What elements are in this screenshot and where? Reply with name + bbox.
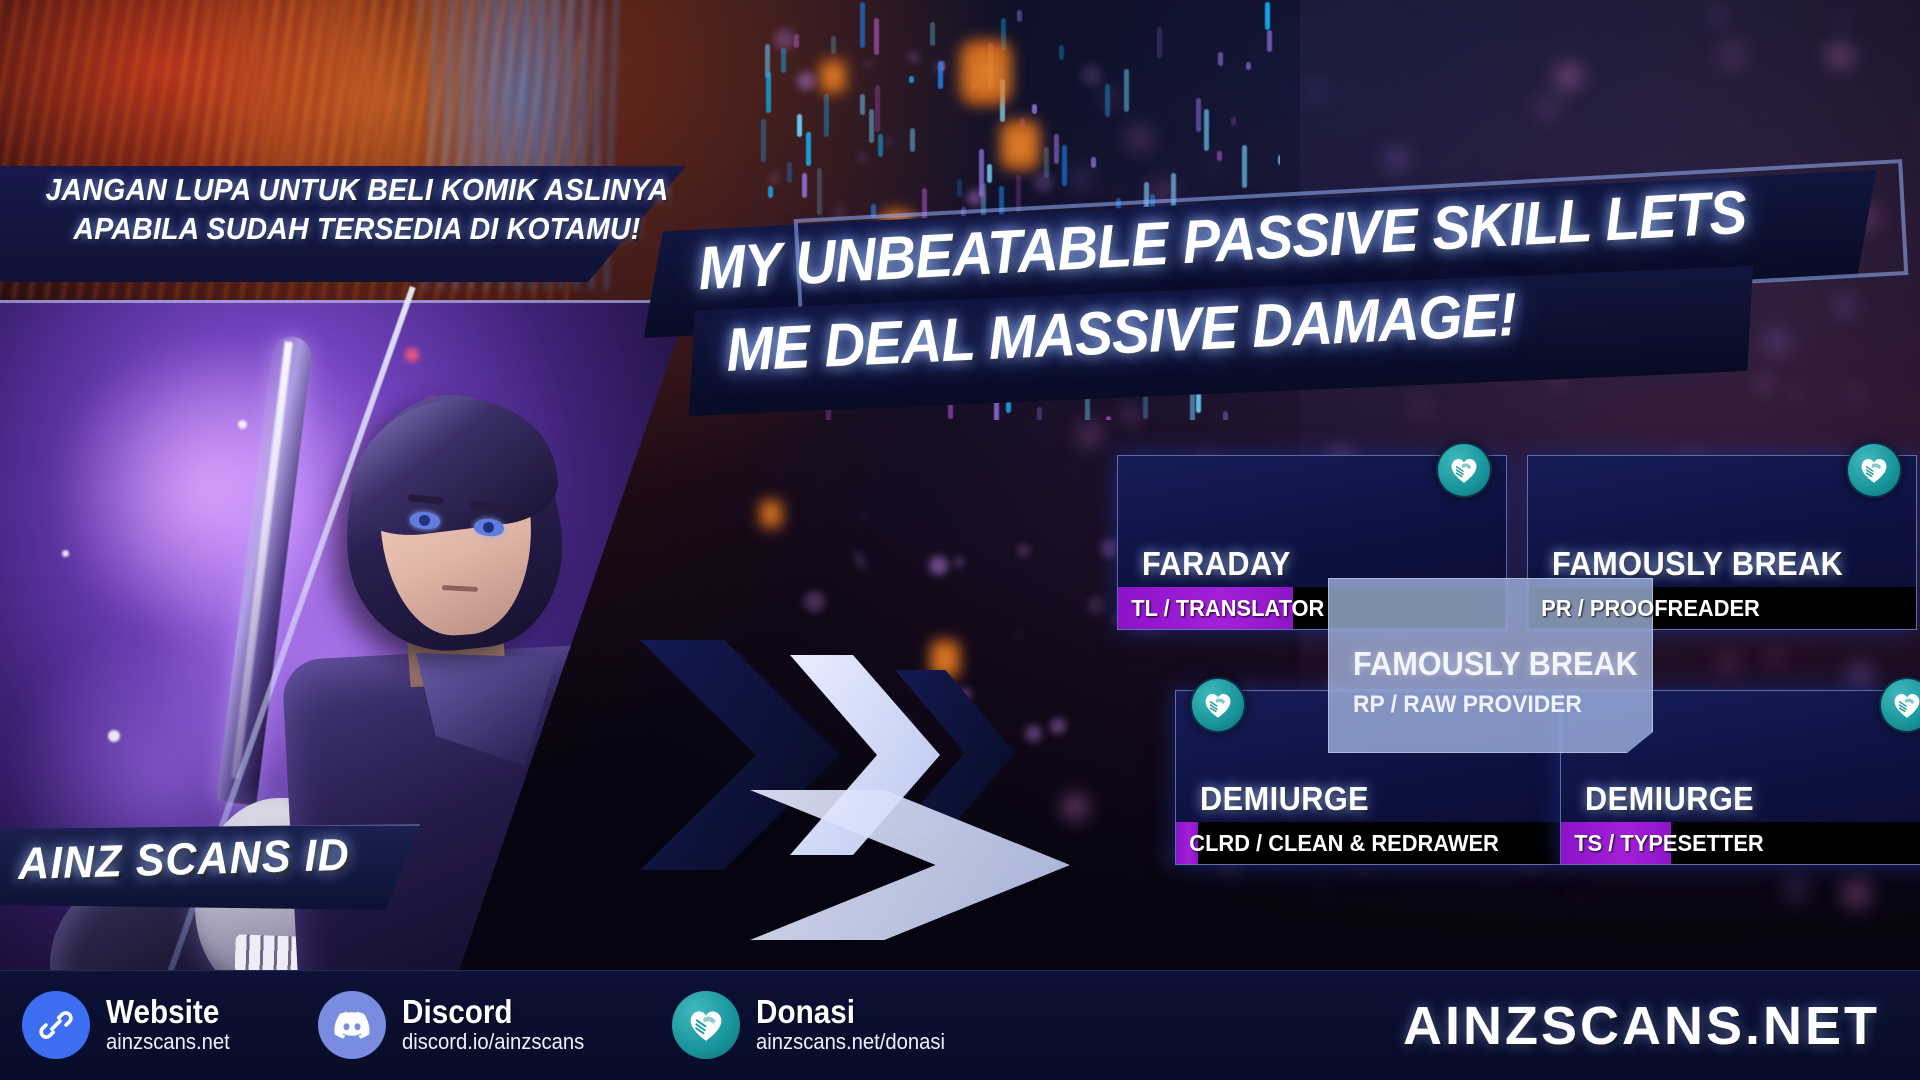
chevron-decoration xyxy=(640,600,1140,980)
scanlation-logo-text: AINZ SCANS ID xyxy=(17,827,402,890)
handshake-heart-icon[interactable] xyxy=(1436,442,1492,498)
credit-role-label: TL / TRANSLATOR xyxy=(1118,595,1324,622)
credit-name: DEMIURGE xyxy=(1585,780,1754,818)
footer-link-url: ainzscans.net xyxy=(106,1029,230,1055)
credit-name: DEMIURGE xyxy=(1200,780,1369,818)
magic-spark xyxy=(62,550,69,557)
footer-bar: Website ainzscans.net Discord discord.io… xyxy=(0,970,1920,1080)
footer-link-url: ainzscans.net/donasi xyxy=(756,1029,945,1055)
footer-link-text-donasi: Donasi ainzscans.net/donasi xyxy=(756,995,961,1055)
magic-spark xyxy=(238,420,247,429)
discord-icon xyxy=(318,991,386,1059)
series-title-block: MY UNBEATABLE PASSIVE SKILL LETS ME DEAL… xyxy=(600,175,1920,425)
credit-role-bar: TS / TYPESETTER xyxy=(1561,822,1920,864)
credit-role-label: TS / TYPESETTER xyxy=(1561,830,1764,857)
footer-link-label: Discord xyxy=(402,995,580,1029)
notice-line-2: APABILA SUDAH TERSEDIA DI KOTAMU! xyxy=(40,209,675,248)
magic-spark xyxy=(108,730,120,742)
handshake-heart-icon xyxy=(672,991,740,1059)
footer-link-discord[interactable]: Discord discord.io/ainzscans xyxy=(318,991,600,1059)
footer-link-website[interactable]: Website ainzscans.net xyxy=(22,991,241,1059)
handshake-heart-icon[interactable] xyxy=(1190,677,1246,733)
credits-page: JANGAN LUPA UNTUK BELI KOMIK ASLINYA APA… xyxy=(0,0,1920,1080)
credit-name: FAMOUSLY BREAK xyxy=(1353,645,1638,683)
credit-role-label: CLRD / CLEAN & REDRAWER xyxy=(1176,830,1499,857)
footer-link-donasi[interactable]: Donasi ainzscans.net/donasi xyxy=(672,991,961,1059)
credit-role-label: RP / RAW PROVIDER xyxy=(1353,691,1582,719)
credit-role-bar: CLRD / CLEAN & REDRAWER xyxy=(1176,822,1564,864)
footer-link-text-discord: Discord discord.io/ainzscans xyxy=(402,995,600,1055)
purchase-notice-text: JANGAN LUPA UNTUK BELI KOMIK ASLINYA APA… xyxy=(40,170,675,248)
site-brand-text: AINZSCANS.NET xyxy=(1403,995,1880,1057)
credit-card-proofreader: FAMOUSLY BREAK PR / PROOFREADER xyxy=(1527,455,1917,630)
notice-line-1: JANGAN LUPA UNTUK BELI KOMIK ASLINYA xyxy=(40,170,675,209)
chevron-light xyxy=(750,790,1070,940)
footer-link-text-website: Website ainzscans.net xyxy=(106,995,241,1055)
link-chain-icon xyxy=(22,991,90,1059)
credit-role-label: PR / PROOFREADER xyxy=(1528,595,1760,622)
footer-link-url: discord.io/ainzscans xyxy=(402,1029,584,1055)
magic-spark-red xyxy=(405,348,419,362)
credit-name: FARADAY xyxy=(1142,545,1291,583)
footer-link-label: Donasi xyxy=(756,995,941,1029)
handshake-heart-icon[interactable] xyxy=(1846,442,1902,498)
footer-link-label: Website xyxy=(106,995,227,1029)
credit-name: FAMOUSLY BREAK xyxy=(1552,545,1843,583)
handshake-heart-icon[interactable] xyxy=(1879,677,1920,733)
